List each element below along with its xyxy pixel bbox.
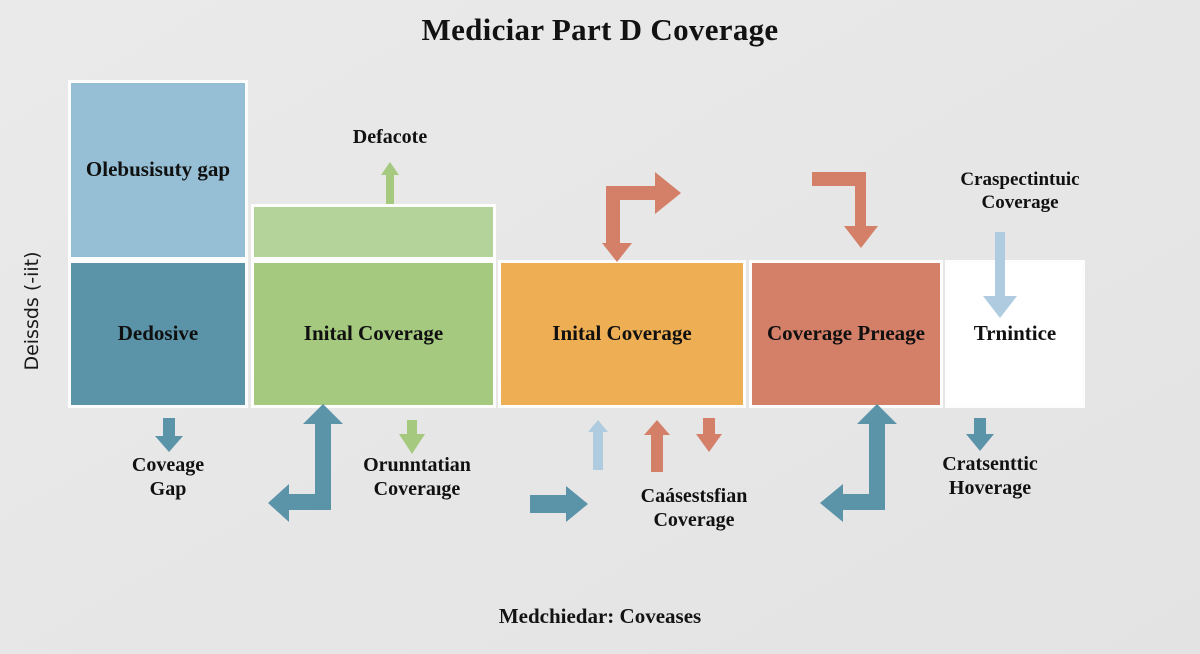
- salmon-down-arrow: [696, 418, 722, 452]
- segment-label: Trnintice: [974, 321, 1056, 347]
- teal-right-arrow: [530, 486, 588, 522]
- chart-canvas: Mediciar Part D Coverage Deissds (-iit) …: [0, 0, 1200, 654]
- green-up-arrow: [381, 162, 399, 204]
- light-blue-up-arrow: [588, 420, 608, 470]
- annotation-coveage-gap: Coveage Gap: [78, 453, 258, 502]
- salmon-elbow-arrow-right: [812, 172, 878, 248]
- green-down-arrow-small: [399, 420, 425, 454]
- annotation-cratsenttic-hoverage: Cratsenttic Hoverage: [890, 452, 1090, 501]
- segment-olebusisuty-gap[interactable]: Olebusisuty gap: [68, 80, 248, 260]
- segment-label: Olebusisuty gap: [86, 157, 230, 183]
- y-axis-label: Deissds (-iit): [21, 221, 43, 401]
- teal-elbow-arrow-cratsenttic: [820, 404, 897, 522]
- chart-caption: Medchiedar: Coveases: [0, 604, 1200, 629]
- segment-coverage-prieage[interactable]: Coverage Prıeage: [749, 260, 943, 408]
- segment-label: Inital Coverage: [552, 321, 691, 347]
- annotation-caasestsfian-coverage: Caásestsfian Coverage: [588, 484, 800, 533]
- annotation-defacote: Defacote: [290, 125, 490, 149]
- segment-initial-coverage-upper[interactable]: [251, 204, 496, 260]
- teal-down-arrow-cratsenttic: [966, 418, 994, 451]
- annotation-craspectintuic-coverage: Craspectintuic Coverage: [900, 168, 1140, 214]
- salmon-elbow-arrow-left: [602, 172, 681, 262]
- segment-label: Dedosive: [118, 321, 199, 347]
- annotation-orunntatian-coverage: Orunntatian Coveraıge: [312, 453, 522, 502]
- segment-label: Coverage Prıeage: [767, 321, 925, 347]
- segment-inital-coverage-orange[interactable]: Inital Coverage: [498, 260, 746, 408]
- segment-label: Inital Coverage: [304, 321, 443, 347]
- segment-inital-coverage-green[interactable]: Inital Coverage: [251, 260, 496, 408]
- page-title: Mediciar Part D Coverage: [0, 12, 1200, 48]
- salmon-up-arrow: [644, 420, 670, 472]
- teal-down-arrow-coveage-gap: [155, 418, 183, 452]
- segment-trnintice[interactable]: Trnintice: [945, 260, 1085, 408]
- segment-dedosive[interactable]: Dedosive: [68, 260, 248, 408]
